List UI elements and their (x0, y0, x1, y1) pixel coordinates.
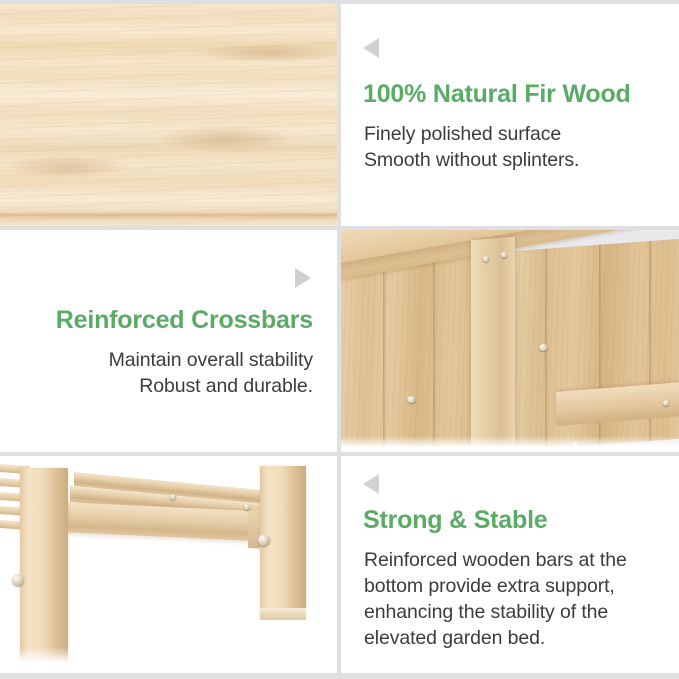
bottom-slat (0, 520, 20, 529)
panel-body-line: elevated garden bed. (364, 626, 627, 652)
triangle-right-icon (295, 268, 311, 288)
panel-body-line: bottom provide extra support, (364, 574, 627, 600)
screw-head (12, 574, 24, 586)
panel-natural-fir-wood-text: 100% Natural Fir Wood Finely polished su… (341, 4, 679, 226)
wooden-planter-side-planks-crossbar-image (341, 230, 679, 452)
screw-head (483, 256, 489, 262)
wood-figure-mark (160, 126, 290, 152)
panel-headline: 100% Natural Fir Wood (363, 80, 631, 109)
smooth-fir-wood-board-closeup-image (0, 4, 337, 226)
product-feature-infographic: 100% Natural Fir Wood Finely polished su… (0, 0, 679, 679)
panel-natural-fir-wood-image (0, 4, 337, 226)
wood-figure-mark (200, 44, 337, 62)
panel-strong-and-stable-image (0, 456, 337, 673)
wood-grain-texture-secondary (0, 4, 337, 226)
panel-reinforced-crossbars-text: Reinforced Crossbars Maintain overall st… (0, 230, 337, 452)
triangle-left-icon (363, 474, 379, 494)
screw-head (170, 494, 176, 500)
panel-reinforced-crossbars-image (341, 230, 679, 452)
screw-head (244, 504, 250, 510)
panel-body-line: Finely polished surface (364, 122, 579, 148)
bottom-fade (341, 436, 679, 452)
panel-body-line: Robust and durable. (109, 374, 313, 400)
bottom-slat (0, 506, 22, 516)
screw-head (539, 344, 548, 351)
bottom-fade (0, 647, 337, 673)
vertical-crossbar-batten (471, 237, 515, 452)
screw-head (258, 534, 270, 546)
screw-head (663, 400, 669, 406)
garden-bed-leg (20, 468, 68, 673)
garden-bed-legs-bottom-support-bars-image (0, 456, 337, 673)
panel-headline: Strong & Stable (363, 506, 548, 535)
bottom-edge-strip (0, 673, 679, 679)
screw-head (407, 396, 416, 403)
wood-figure-mark (6, 156, 126, 178)
panel-body-line: Smooth without splinters. (364, 148, 579, 174)
panel-body-line: Reinforced wooden bars at the (364, 548, 627, 574)
triangle-left-icon (363, 38, 379, 58)
panel-body-line: enhancing the stability of the (364, 600, 627, 626)
panel-body-line: Maintain overall stability (109, 348, 313, 374)
panel-headline: Reinforced Crossbars (56, 306, 313, 335)
panel-strong-and-stable-text: Strong & Stable Reinforced wooden bars a… (341, 456, 679, 673)
leg-foot (260, 608, 306, 620)
screw-head (501, 252, 507, 258)
